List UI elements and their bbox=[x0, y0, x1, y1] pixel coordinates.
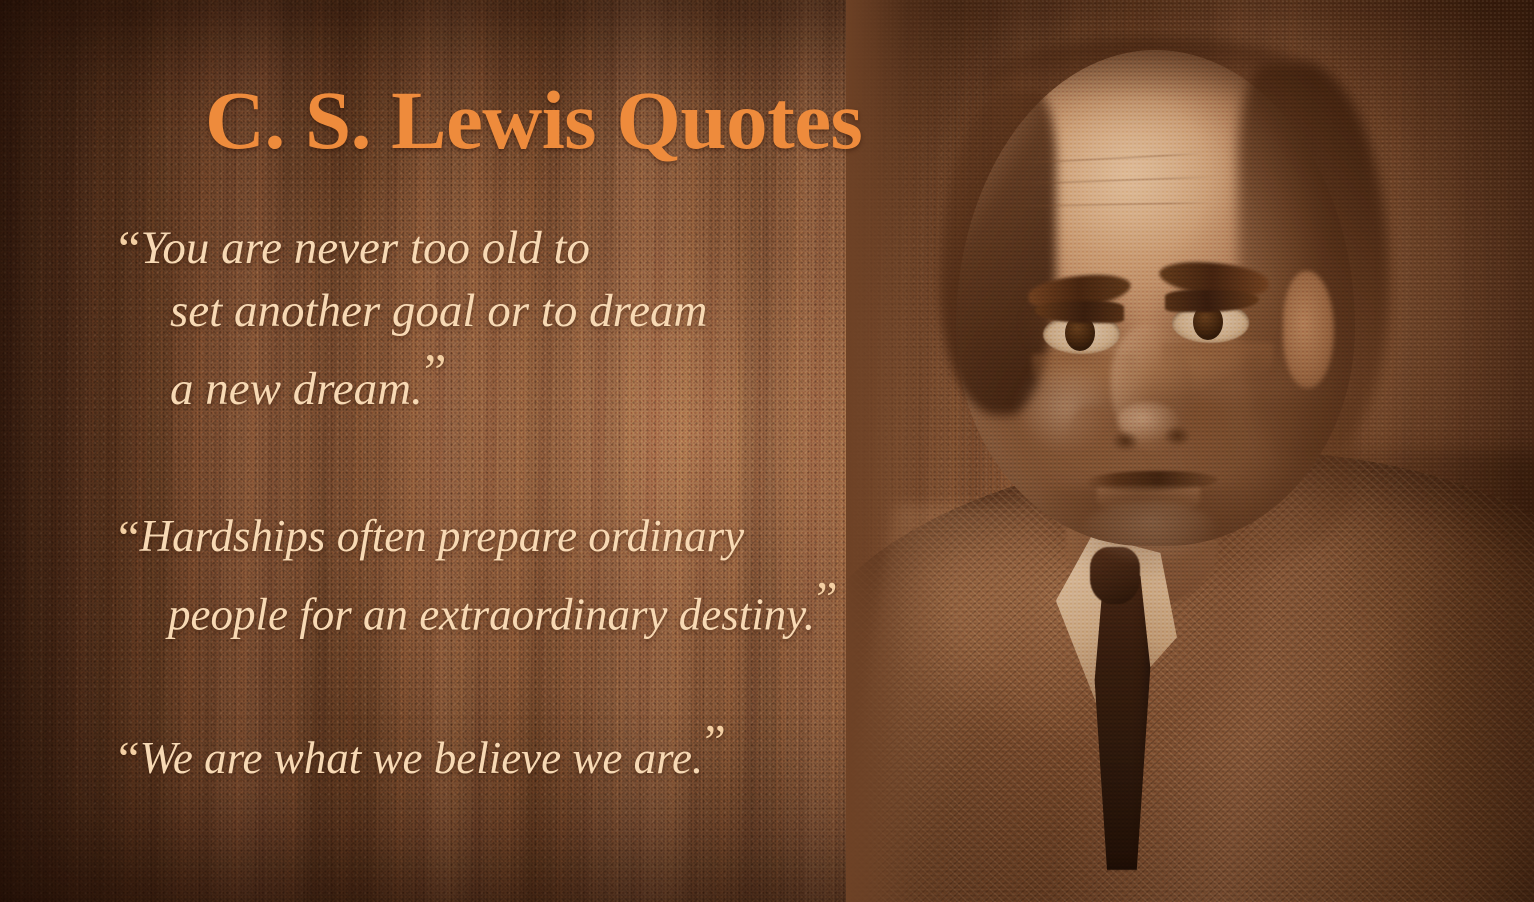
close-quote-icon: ” bbox=[704, 715, 724, 769]
close-quote-icon: ” bbox=[424, 344, 445, 400]
quote-line-text: You are never too old to bbox=[141, 222, 591, 274]
open-quote-icon: “ bbox=[118, 732, 138, 786]
quote-poster: C. S. Lewis Quotes “You are never too ol… bbox=[0, 0, 1534, 902]
open-quote-icon: “ bbox=[118, 221, 139, 277]
page-title: C. S. Lewis Quotes bbox=[205, 72, 862, 168]
quote-line: set another goal or to dream bbox=[118, 282, 898, 341]
quote-line: a new dream.” bbox=[118, 341, 898, 419]
quote-line: “You are never too old to bbox=[118, 218, 898, 282]
open-quote-icon: “ bbox=[118, 511, 138, 565]
quote-line-text: a new dream. bbox=[170, 363, 423, 415]
quote-block-1: “You are never too old to set another go… bbox=[118, 218, 898, 420]
quote-block-3: “We are what we believe we are.” bbox=[118, 712, 918, 791]
quote-line: “We are what we believe we are.” bbox=[118, 733, 724, 783]
text-content: C. S. Lewis Quotes “You are never too ol… bbox=[0, 0, 1534, 902]
quote-line-text: Hardships often prepare ordinary bbox=[140, 511, 745, 561]
quote-line-text: people for an extraordinary destiny. bbox=[168, 590, 815, 640]
quote-line-text: We are what we believe we are. bbox=[140, 733, 704, 783]
quote-line: “Hardships often prepare ordinary bbox=[118, 508, 958, 569]
quote-line-text: set another goal or to dream bbox=[170, 285, 707, 337]
quote-block-2: “Hardships often prepare ordinary people… bbox=[118, 508, 958, 643]
quote-line: people for an extraordinary destiny.” bbox=[118, 569, 958, 643]
close-quote-icon: ” bbox=[816, 572, 836, 626]
